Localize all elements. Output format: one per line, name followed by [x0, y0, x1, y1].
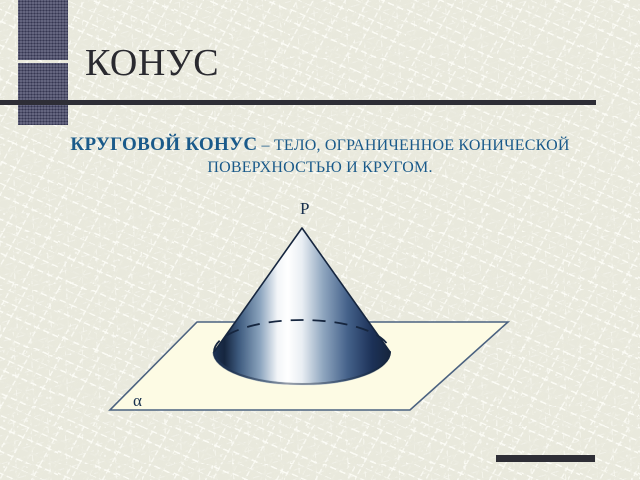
cone-diagram-svg [90, 195, 530, 430]
header-divider-rule [0, 100, 596, 105]
cone-lateral-surface [214, 228, 390, 384]
plane-alpha-label: α [133, 391, 142, 411]
cone-figure [90, 195, 530, 430]
definition-text: КРУГОВОЙ КОНУС – ТЕЛО, ОГРАНИЧЕННОЕ КОНИ… [48, 133, 592, 178]
definition-term: КРУГОВОЙ КОНУС [70, 134, 257, 155]
slide-canvas: КОНУС КРУГОВОЙ КОНУС – ТЕЛО, ОГРАНИЧЕННО… [0, 0, 640, 480]
page-title: КОНУС [85, 44, 219, 82]
definition-body: – ТЕЛО, ОГРАНИЧЕННОЕ КОНИЧЕСКОЙ ПОВЕРХНО… [207, 137, 569, 176]
navy-decor-block-bottom [18, 63, 68, 125]
footer-accent-bar [496, 455, 595, 462]
cone-apex-label: P [300, 199, 309, 219]
navy-decor-block-top [18, 0, 68, 60]
